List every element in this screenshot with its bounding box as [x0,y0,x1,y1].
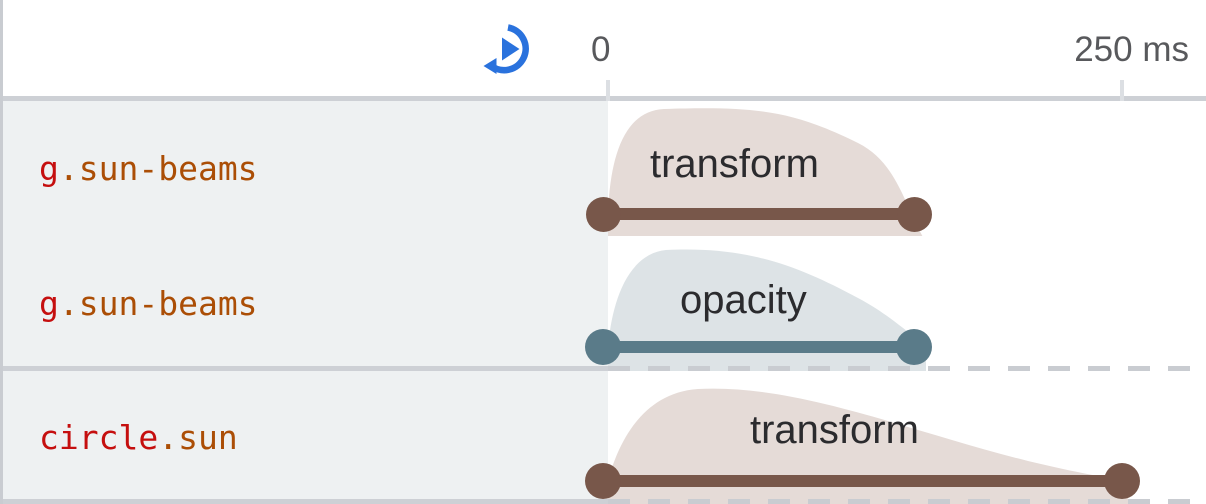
animation-row[interactable]: g.sun-beams transform [3,101,1206,236]
animation-target-selector[interactable]: circle.sun [39,421,238,454]
timeline-ruler-header: 0 250 ms [3,0,1206,101]
animation-row[interactable]: g.sun-beams opacity [3,236,1206,371]
animation-row-track[interactable]: transform [608,101,1206,236]
selector-class: .sun-beams [59,284,258,323]
animation-end-handle[interactable] [896,329,932,365]
animation-timeline-panel: 0 250 ms g.sun-beams transform [0,0,1206,504]
selector-class: .sun [158,418,237,457]
animation-row-sidebar[interactable]: g.sun-beams [3,101,608,236]
animation-row-track[interactable]: opacity [608,236,1206,371]
animation-start-handle[interactable] [586,197,621,232]
selector-tag: g [39,149,59,188]
animation-start-handle[interactable] [585,329,621,365]
ruler-time-start: 0 [591,32,610,67]
animation-property-name: transform [650,144,819,184]
replay-icon[interactable] [481,22,535,76]
animation-row[interactable]: circle.sun transform [3,371,1206,504]
animation-duration-bar[interactable] [603,208,919,220]
animation-duration-bar[interactable] [603,475,1127,487]
selector-tag: g [39,284,59,323]
selector-class: .sun-beams [59,149,258,188]
animation-start-handle[interactable] [585,463,621,499]
row-divider-dashed [608,499,1206,504]
animation-target-selector[interactable]: g.sun-beams [39,287,258,320]
animation-row-sidebar[interactable]: g.sun-beams [3,236,608,371]
animation-row-sidebar[interactable]: circle.sun [3,371,608,504]
animation-property-name: transform [750,410,919,450]
animation-target-selector[interactable]: g.sun-beams [39,152,258,185]
selector-tag: circle [39,418,158,457]
animation-row-track[interactable]: transform [608,371,1206,504]
animation-end-handle[interactable] [1104,463,1140,499]
animation-property-name: opacity [680,280,807,320]
animation-end-handle[interactable] [897,197,932,232]
row-divider [3,499,608,504]
animation-rows: g.sun-beams transform g.sun-beams [3,101,1206,504]
animation-duration-bar[interactable] [603,341,919,353]
ruler-time-end: 250 ms [1074,32,1189,67]
